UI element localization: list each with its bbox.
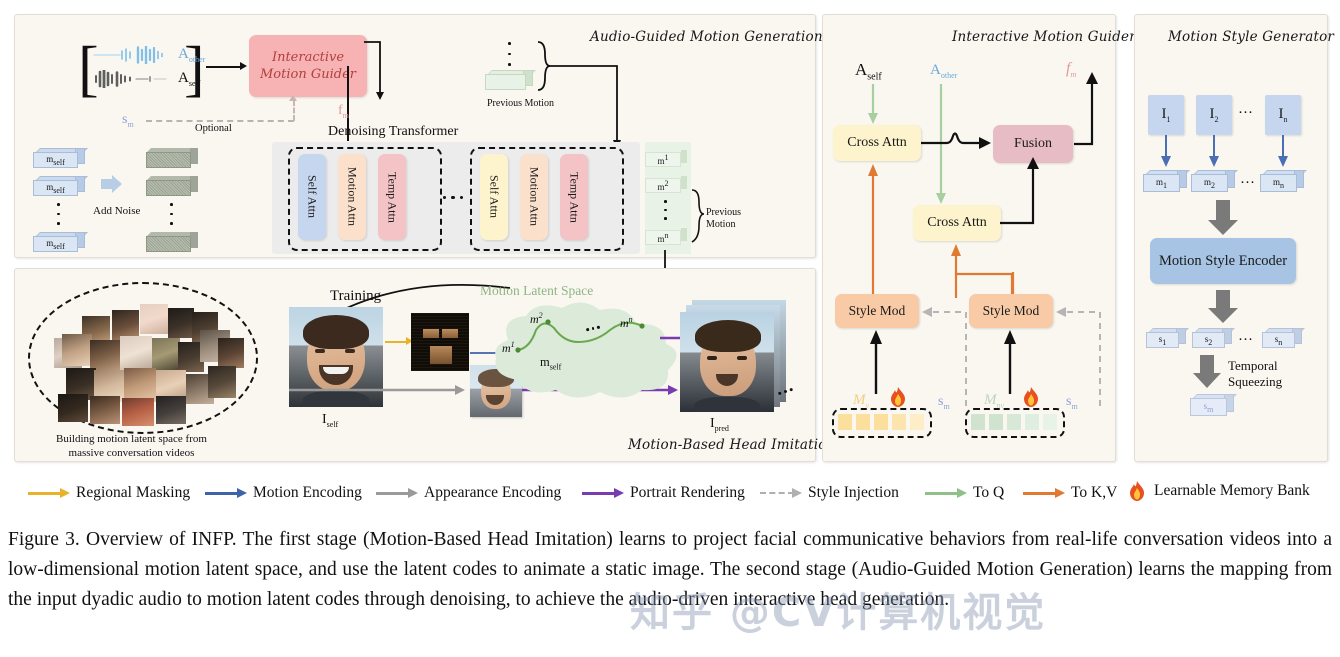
motion-token-dots	[664, 200, 667, 220]
arrow-audio-to-guider	[206, 66, 242, 68]
style-input-ellipsis: ···	[1238, 105, 1253, 122]
arrow-memory-nv-to-style-mod	[1003, 328, 1017, 396]
mosaic-caption-line1: Building motion latent space from	[56, 432, 207, 446]
style-slab-1: s1	[1146, 328, 1186, 348]
figure-caption: Figure 3. Overview of INFP. The first st…	[8, 525, 1332, 615]
label-sm-guider-left: sm	[938, 394, 950, 411]
block-self-attn-left[interactable]: Self Attn	[298, 154, 326, 240]
temporal-line-1: Temporal	[1228, 358, 1282, 374]
mosaic-caption-line2: massive conversation videos	[56, 446, 207, 460]
prev-motion-line1: Previous	[706, 207, 741, 219]
mosaic-face	[140, 304, 168, 334]
motion-token-label-2: m2	[657, 179, 668, 192]
style-motion-label-3: mn	[1273, 177, 1284, 190]
label-add-noise: Add Noise	[93, 205, 140, 217]
style-injection-dashed-right	[1052, 300, 1106, 412]
motion-token-1: m1	[645, 150, 687, 167]
panel-title-audio-guided: Audio-Guided Motion Generation	[590, 29, 823, 45]
noisy-slab-2	[146, 176, 198, 196]
add-noise-arrow-icon	[97, 175, 123, 203]
style-slab-2: s2	[1192, 328, 1232, 348]
legend-arrow-regional-masking	[28, 488, 72, 498]
previous-motion-top-path	[549, 60, 639, 150]
cross-attn-box-2[interactable]: Cross Attn	[913, 205, 1001, 241]
mosaic-face	[90, 396, 120, 424]
waveform-other-icon	[92, 46, 172, 64]
label-a-other-guider: Aother	[930, 62, 957, 80]
prev-motion-line2: Motion	[706, 219, 741, 231]
legend-item-learnable-memory-bank: Learnable Memory Bank	[1128, 480, 1310, 502]
block-temp-attn-right[interactable]: Temp Attn	[560, 154, 588, 240]
arrow-appearance-encoding	[289, 382, 469, 404]
legend-label-motion-encoding: Motion Encoding	[253, 484, 362, 502]
m-self-slab-1: mself	[33, 148, 85, 168]
panel-title-style-generator: Motion Style Generator	[1168, 29, 1334, 45]
label-sm-guider-right: sm	[1066, 394, 1078, 411]
label-i-pred: Ipred	[710, 416, 729, 433]
flame-icon-memory-v	[889, 386, 907, 408]
arrow-audio-to-guider-head	[240, 62, 247, 70]
panel-title-head-imitation: Motion-Based Head Imitation	[628, 437, 836, 453]
fusion-to-fm-arrow	[1070, 70, 1102, 148]
block-self-attn-right[interactable]: Self Attn	[480, 154, 508, 240]
m-self-slab-3: mself	[33, 232, 85, 252]
style-input-image-3: In	[1265, 95, 1301, 135]
block-motion-attn-right[interactable]: Motion Attn	[520, 154, 548, 240]
mosaic-face	[208, 366, 236, 398]
m-self-label-3: mself	[46, 238, 65, 251]
legend-arrow-portrait-rendering	[582, 488, 626, 498]
style-input-image-2: I2	[1196, 95, 1232, 135]
interactive-motion-guider-box[interactable]: Interactive Motion Guider	[249, 35, 367, 97]
legend-label-appearance-encoding: Appearance Encoding	[424, 484, 561, 502]
style-sm-slab: sm	[1190, 394, 1234, 416]
arrow-optional-head	[289, 95, 297, 101]
style-input-label-1: I1	[1162, 106, 1171, 124]
arrow-input-to-motion-1	[1159, 135, 1173, 169]
style-slab-ellipsis: ···	[1238, 332, 1253, 349]
legend-arrow-style-injection	[760, 488, 804, 498]
temporal-line-2: Squeezing	[1228, 374, 1282, 390]
label-a-self-guider: Aself	[855, 60, 882, 82]
legend-item-portrait-rendering: Portrait Rendering	[582, 484, 745, 502]
label-temporal-squeezing: Temporal Squeezing	[1228, 358, 1282, 390]
arrow-to-kv-left	[866, 160, 880, 298]
noisy-dots	[170, 203, 173, 225]
style-motion-ellipsis: ···	[1240, 175, 1255, 192]
legend-arrow-motion-encoding	[205, 488, 249, 498]
style-motion-slab-2: m2	[1191, 170, 1235, 192]
legend-item-appearance-encoding: Appearance Encoding	[376, 484, 561, 502]
label-i-self: Iself	[322, 412, 338, 429]
mosaic-face	[168, 308, 194, 338]
label-audio-self: Aself	[178, 70, 200, 88]
arrow-input-to-motion-3	[1276, 135, 1290, 169]
arrow-input-to-motion-2	[1207, 135, 1221, 169]
label-previous-motion-right: Previous Motion	[706, 207, 741, 231]
mosaic-face	[152, 338, 180, 370]
legend-arrow-to-q	[925, 488, 969, 498]
gray-arrow-temporal-squeezing	[1192, 355, 1222, 389]
figure-root: Audio-Guided Motion Generation [ ] Aothe…	[0, 0, 1340, 657]
label-traj-m2: m2	[530, 311, 543, 327]
motion-token-label-3: mn	[657, 231, 668, 244]
legend-arrow-appearance-encoding	[376, 488, 420, 498]
legend-label-style-injection: Style Injection	[808, 484, 899, 502]
cross-attn-2-to-fusion	[1000, 155, 1042, 229]
legend-item-to-kv: To K,V	[1023, 484, 1117, 502]
flame-icon-legend	[1128, 480, 1146, 502]
label-traj-m1: m1	[502, 340, 515, 356]
noisy-slab-1	[146, 148, 198, 168]
motion-token-3: mn	[645, 228, 687, 245]
label-audio-other: Aother	[178, 46, 205, 64]
style-mod-box-1[interactable]: Style Mod	[835, 294, 919, 328]
dashed-line-optional	[146, 120, 294, 122]
block-temp-attn-left[interactable]: Temp Attn	[378, 154, 406, 240]
m-self-slab-2: mself	[33, 176, 85, 196]
guider-line-1: Interactive	[272, 49, 344, 66]
m-self-label-1: mself	[46, 154, 65, 167]
legend-arrow-to-kv	[1023, 488, 1067, 498]
legend-label-portrait-rendering: Portrait Rendering	[630, 484, 745, 502]
legend-item-regional-masking: Regional Masking	[28, 484, 190, 502]
style-slab-label-2: s2	[1205, 334, 1213, 347]
label-s-m-optional: sm	[122, 112, 134, 129]
style-motion-label-1: m1	[1156, 177, 1167, 190]
style-motion-label-2: m2	[1204, 177, 1215, 190]
mosaic-face	[62, 334, 92, 366]
mosaic-face	[122, 398, 154, 426]
label-training: Training	[330, 288, 381, 305]
mosaic-face	[58, 394, 88, 422]
legend-label-to-kv: To K,V	[1071, 484, 1117, 502]
style-sm-label: sm	[1204, 401, 1214, 414]
guider-output-elbow	[364, 38, 388, 100]
gray-arrow-to-encoder	[1207, 200, 1239, 236]
motion-style-encoder-box[interactable]: Motion Style Encoder	[1150, 238, 1296, 284]
label-m-self-cloud: mself	[540, 355, 561, 372]
previous-motion-right-brace	[690, 188, 706, 244]
m-self-label-2: mself	[46, 182, 65, 195]
masked-face-image	[411, 313, 469, 371]
style-motion-slab-3: mn	[1260, 170, 1304, 192]
block-motion-attn-left[interactable]: Motion Attn	[338, 154, 366, 240]
portrait-i-pred	[680, 312, 774, 412]
arrow-to-q-left	[866, 84, 880, 126]
label-fm: fm	[338, 103, 349, 120]
style-motion-slab-1: m1	[1143, 170, 1187, 192]
arrow-memory-v-to-style-mod	[869, 328, 883, 396]
dashed-line-optional-up	[293, 100, 295, 121]
motion-token-label-1: m1	[657, 153, 668, 166]
label-motion-latent-space: Motion Latent Space	[480, 283, 593, 299]
label-previous-motion-top: Previous Motion	[487, 98, 554, 109]
legend-label-regional-masking: Regional Masking	[76, 484, 190, 502]
noisy-slab-3	[146, 232, 198, 252]
previous-motion-top-dots	[508, 42, 511, 66]
label-optional: Optional	[195, 123, 232, 134]
label-traj-mn: mn	[620, 315, 633, 331]
label-mosaic-caption: Building motion latent space from massiv…	[56, 432, 207, 460]
legend-label-to-q: To Q	[973, 484, 1004, 502]
legend-item-to-q: To Q	[925, 484, 1004, 502]
legend-item-motion-encoding: Motion Encoding	[205, 484, 362, 502]
legend-label-learnable-memory-bank: Learnable Memory Bank	[1154, 482, 1310, 500]
cross-attn-1-to-fusion	[921, 130, 999, 156]
style-slab-label-1: s1	[1159, 334, 1167, 347]
memory-bank-nv[interactable]	[965, 408, 1065, 438]
mosaic-face	[156, 396, 186, 424]
transformer-ellipsis	[443, 196, 463, 199]
style-input-label-2: I2	[1210, 106, 1219, 124]
label-denoising-transformer: Denoising Transformer	[328, 124, 458, 140]
memory-bank-v[interactable]	[832, 408, 932, 438]
legend-item-style-injection: Style Injection	[760, 484, 899, 502]
guider-line-2: Motion Guider	[260, 66, 356, 83]
style-slab-3: sn	[1262, 328, 1302, 348]
previous-motion-top-slab	[485, 70, 533, 90]
style-input-image-1: I1	[1148, 95, 1184, 135]
flame-icon-memory-nv	[1022, 386, 1040, 408]
legend: Regional Masking Motion Encoding Appeara…	[0, 474, 1340, 516]
mosaic-face	[120, 336, 152, 370]
gray-arrow-to-styles	[1207, 290, 1239, 324]
style-slab-label-3: sn	[1275, 334, 1283, 347]
waveform-self-icon	[92, 70, 172, 88]
style-input-label-3: In	[1279, 106, 1288, 124]
motion-token-2: m2	[645, 176, 687, 193]
m-self-dots	[57, 203, 60, 225]
mosaic-face	[124, 368, 156, 402]
panel-title-motion-guider: Interactive Motion Guider	[952, 29, 1136, 45]
style-mod-box-2[interactable]: Style Mod	[969, 294, 1053, 328]
cross-attn-box-1[interactable]: Cross Attn	[833, 125, 921, 161]
